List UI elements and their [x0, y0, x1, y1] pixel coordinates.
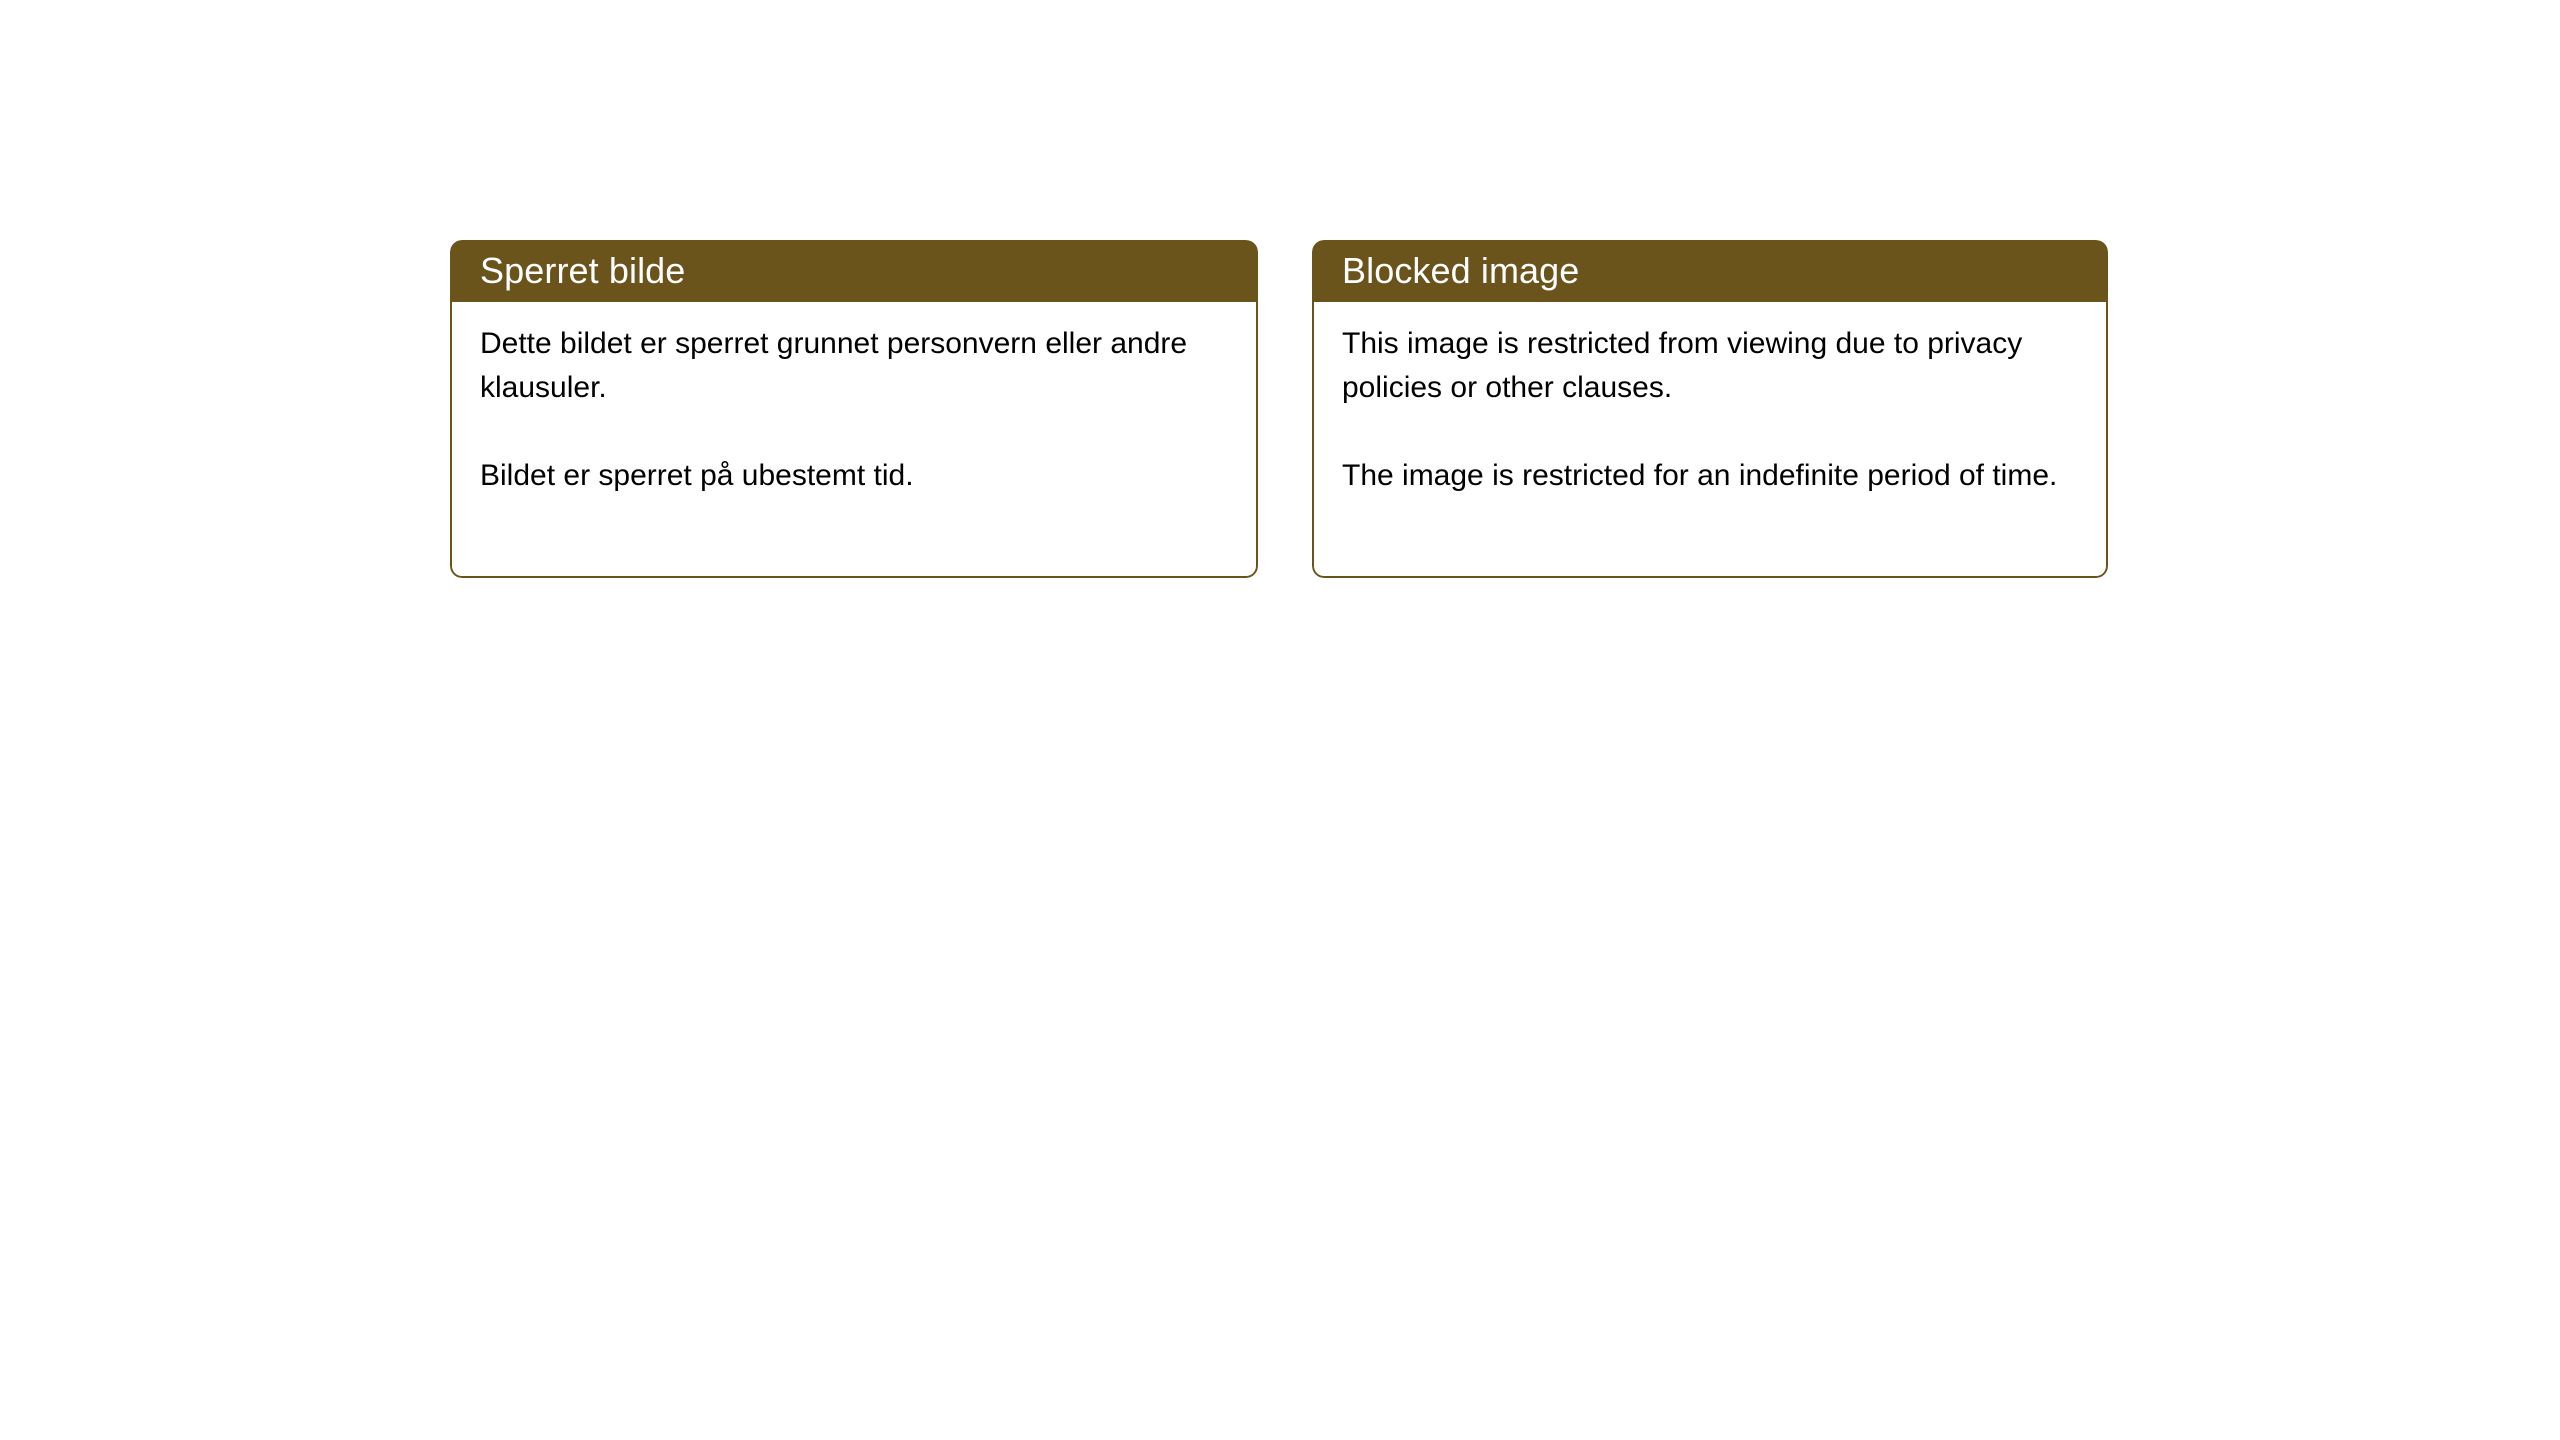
blocked-image-card-norwegian: Sperret bilde Dette bildet er sperret gr… — [450, 240, 1258, 578]
card-paragraph-secondary-english: The image is restricted for an indefinit… — [1342, 454, 2080, 498]
card-header-english: Blocked image — [1312, 240, 2108, 302]
card-title-norwegian: Sperret bilde — [480, 253, 685, 289]
card-paragraph-primary-norwegian: Dette bildet er sperret grunnet personve… — [480, 322, 1230, 410]
blocked-image-card-english: Blocked image This image is restricted f… — [1312, 240, 2108, 578]
card-header-norwegian: Sperret bilde — [450, 240, 1258, 302]
blocked-image-notice-area: Sperret bilde Dette bildet er sperret gr… — [450, 240, 2108, 578]
card-body-norwegian: Dette bildet er sperret grunnet personve… — [450, 302, 1258, 578]
card-paragraph-primary-english: This image is restricted from viewing du… — [1342, 322, 2080, 410]
card-body-english: This image is restricted from viewing du… — [1312, 302, 2108, 578]
card-paragraph-secondary-norwegian: Bildet er sperret på ubestemt tid. — [480, 454, 1230, 498]
card-title-english: Blocked image — [1342, 253, 1579, 289]
